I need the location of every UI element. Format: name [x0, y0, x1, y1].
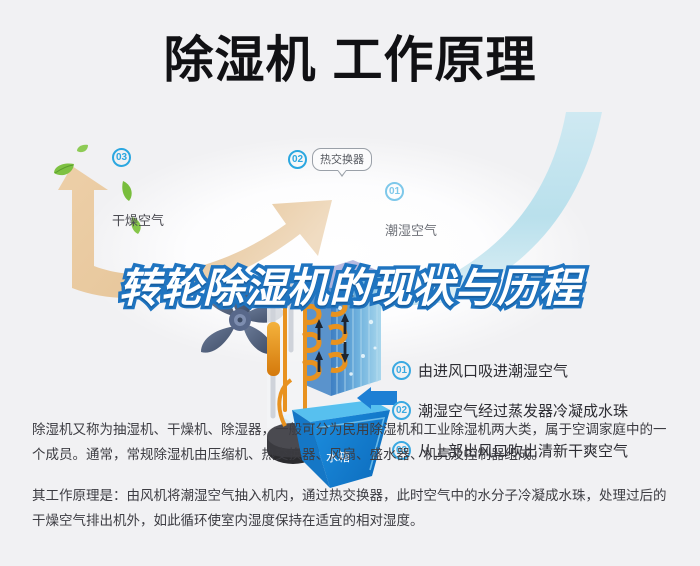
body-paragraph-2: 其工作原理是：由风机将潮湿空气抽入机内，通过热交换器，此时空气中的水分子冷凝成水… — [32, 484, 672, 534]
body-paragraph-1: 除湿机又称为抽湿机、干燥机、除湿器，一般可分为民用除湿机和工业除湿机两大类，属于… — [32, 418, 672, 468]
air-inlet-arrow-icon — [357, 387, 397, 409]
page-title: 除湿机 工作原理 — [0, 22, 700, 98]
leaf-icon — [120, 180, 135, 202]
dehumidifier-diagram: 水箱 03 干燥空气 02 热交换器 01 潮湿空气 01 由进风口吸进潮湿空气… — [0, 110, 700, 395]
page-title-part2: 工作原理 — [333, 35, 537, 85]
legend-item-01: 01 由进风口吸进潮湿空气 — [392, 358, 692, 382]
body-paragraph-2-container: 其工作原理是：由风机将潮湿空气抽入机内，通过热交换器，此时空气中的水分子冷凝成水… — [32, 484, 672, 534]
body-paragraph-1-container: 除湿机又称为抽湿机、干燥机、除湿器，一般可分为民用除湿机和工业除湿机两大类，属于… — [32, 418, 672, 468]
leaf-icon — [52, 162, 76, 178]
legend-text: 由进风口吸进潮湿空气 — [418, 360, 568, 381]
callout-badge-dry-air: 03 — [112, 148, 131, 167]
callout-badge-heat-exchanger: 02 — [288, 150, 307, 169]
leaf-icon — [76, 144, 89, 154]
legend-badge: 02 — [392, 401, 411, 420]
callout-label-dry-air: 干燥空气 — [112, 210, 164, 229]
callout-badge-humid-air: 01 — [385, 182, 404, 201]
callout-label-heat-exchanger: 热交换器 — [312, 148, 372, 171]
page-title-part1: 除湿机 — [164, 35, 317, 85]
callout-label-humid-air: 潮湿空气 — [385, 220, 437, 239]
legend-badge: 01 — [392, 361, 411, 380]
poster-root: 除湿机 工作原理 — [0, 0, 700, 566]
